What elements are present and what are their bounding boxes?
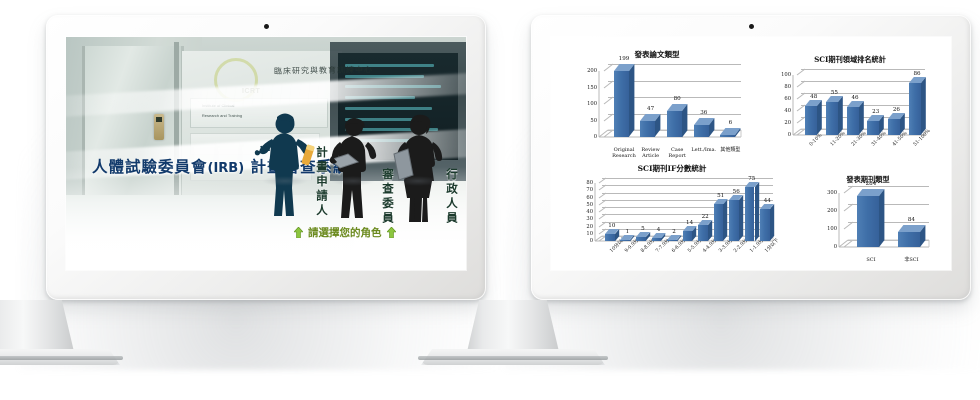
bar <box>826 102 838 135</box>
bar <box>805 106 817 135</box>
y-tick-label: 80 <box>586 180 593 186</box>
monitor-base-lip <box>0 356 123 360</box>
bar-value-label: 36 <box>700 110 707 116</box>
bar-value-label: 10 <box>608 223 615 229</box>
sci-if-score-chart-title: SCI期刊IF分數統計 <box>559 163 785 174</box>
bar <box>636 237 646 241</box>
role-figure-administrator[interactable] <box>390 114 446 224</box>
y-tick-label: 300 <box>827 190 837 196</box>
bar <box>652 238 662 241</box>
bar <box>620 240 630 242</box>
bar-value-label: 26 <box>893 107 900 113</box>
y-tick-label: 100 <box>827 226 837 232</box>
left-screen[interactable]: ICRT 臨床研究與教育訓練中心 Institute of Clinical R… <box>66 37 466 270</box>
bar-value-label: 48 <box>810 94 817 100</box>
bar-side-face <box>770 204 774 241</box>
bar-value-label: 44 <box>764 198 771 204</box>
y-tick-label: 60 <box>586 195 593 201</box>
bar-value-label: 22 <box>702 214 709 220</box>
bar <box>683 231 693 241</box>
bar-side-face <box>739 195 743 241</box>
y-tick-label: 50 <box>586 202 593 208</box>
wall-sign-text: 臨床研究與教育訓練中心 <box>274 64 373 77</box>
bar-side-face <box>723 199 727 241</box>
sci-if-score-chart-plot: 01020304050607080 1010分以上 19-9.9分 58-8.9… <box>595 183 773 241</box>
y-tick-label: 20 <box>586 224 593 230</box>
bar-top-face <box>857 189 884 196</box>
bar-value-label: 14 <box>686 220 693 226</box>
up-arrow-icon <box>294 227 303 238</box>
system-title-cn: 人體試驗委員會 <box>92 158 208 176</box>
sci-field-rank-chart: SCI期刊領域排名統計020406080100 480-10% 5511-20%… <box>757 55 943 159</box>
y-tick-label: 60 <box>784 96 791 102</box>
bar-top-face <box>847 101 864 107</box>
bar <box>667 240 677 242</box>
webcam-icon <box>749 24 754 29</box>
journal-type-chart: 發表期刊類型0100200300 284SCI 84非SCI <box>795 175 941 267</box>
bar-side-face <box>879 189 884 247</box>
y-tick-label: 0 <box>834 244 837 250</box>
right-screen[interactable]: 發表論文類型050100150200 199Original Research … <box>551 37 951 270</box>
journal-type-chart-plot: 0100200300 284SCI 84非SCI <box>839 193 929 247</box>
bar <box>867 121 879 135</box>
x-tick-label: 其他類型 <box>712 147 749 153</box>
y-tick-label: 0 <box>788 132 791 138</box>
y-tick-label: 70 <box>586 187 593 193</box>
bar <box>888 119 900 135</box>
bar-value-label: 5 <box>641 226 645 232</box>
bar <box>898 232 920 247</box>
bar-value-label: 1 <box>626 229 630 235</box>
role-figure-reviewer[interactable] <box>324 116 382 224</box>
x-tick-label: 非SCI <box>886 257 937 263</box>
role-prompt-text: 請選擇您的角色 <box>308 225 382 240</box>
bar-value-label: 55 <box>831 90 838 96</box>
bar-side-face <box>921 77 926 135</box>
bar-top-face <box>745 182 759 187</box>
bar-value-label: 2 <box>672 229 676 235</box>
bar-top-face <box>698 220 712 225</box>
bar-top-face <box>714 199 728 204</box>
paper-type-chart-title: 發表論文類型 <box>559 49 755 60</box>
bar <box>760 209 770 241</box>
y-tick-label: 20 <box>784 120 791 126</box>
bar-value-label: 51 <box>717 193 724 199</box>
bar-value-label: 23 <box>872 109 879 115</box>
bar-top-face <box>694 118 714 125</box>
y-tick-label: 10 <box>586 231 593 237</box>
bar <box>729 200 739 241</box>
bar <box>694 125 709 137</box>
bar-top-face <box>683 226 697 231</box>
statistics-slide: 發表論文類型050100150200 199Original Research … <box>551 37 951 270</box>
monitor-chin <box>531 274 971 300</box>
bar-value-label: 75 <box>748 176 755 182</box>
bar-top-face <box>640 114 660 121</box>
y-tick-label: 50 <box>590 118 597 124</box>
bar <box>847 107 859 135</box>
bar-top-face <box>805 100 822 106</box>
y-tick-label: 200 <box>587 68 597 74</box>
bar-top-face <box>888 113 905 119</box>
bar-top-face <box>867 115 884 121</box>
y-tick-label: 0 <box>590 238 593 244</box>
y-tick-label: 150 <box>587 85 597 91</box>
y-tick-label: 100 <box>587 101 597 107</box>
name-plate-line2: Research and Training <box>202 113 242 119</box>
up-arrow-icon-2 <box>387 227 396 238</box>
role-figure-applicant[interactable] <box>254 112 316 224</box>
bar <box>909 83 921 135</box>
bar-top-face <box>652 233 666 238</box>
bar-value-label: 6 <box>729 120 733 126</box>
y-tick-label: 40 <box>784 108 791 114</box>
bar-value-label: 84 <box>908 217 915 223</box>
monitor-neck <box>0 300 75 356</box>
bar <box>698 225 708 241</box>
bar-value-label: 47 <box>647 106 654 112</box>
bar <box>667 111 682 137</box>
bar-value-label: 284 <box>866 181 877 187</box>
y-tick-label: 30 <box>586 216 593 222</box>
system-title-en: (IRB) <box>208 161 245 176</box>
bar-top-face <box>636 232 650 237</box>
y-tick-label: 0 <box>594 134 597 140</box>
sci-field-rank-chart-plot: 020406080100 480-10% 5511-20% 4621-30% 2… <box>793 75 925 135</box>
sci-if-score-chart: SCI期刊IF分數統計01020304050607080 1010分以上 19-… <box>559 163 785 267</box>
bar-top-face <box>729 195 743 200</box>
y-tick-label: 40 <box>586 209 593 215</box>
bar-value-label: 199 <box>619 56 630 62</box>
bar-value-label: 86 <box>914 71 921 77</box>
bar-side-face <box>755 182 759 241</box>
bar-top-face <box>720 128 740 135</box>
monitor-base-lip <box>418 356 608 360</box>
bar-top-face <box>826 96 843 102</box>
y-tick-label: 100 <box>781 72 791 78</box>
bar-top-face <box>760 204 774 209</box>
bar-value-label: 56 <box>733 189 740 195</box>
photo-card-reader <box>154 114 164 140</box>
role-label-administrator[interactable]: 行政人員 <box>444 168 460 226</box>
bar <box>714 204 724 241</box>
bar-value-label: 46 <box>852 95 859 101</box>
bar <box>857 196 879 247</box>
applicant-silhouette-icon <box>254 112 316 224</box>
reviewer-silhouette-icon <box>324 116 382 224</box>
bar-top-face <box>909 77 926 83</box>
sci-field-rank-chart-title: SCI期刊領域排名統計 <box>757 55 943 65</box>
screenshot-stage: ICRT 臨床研究與教育訓練中心 Institute of Clinical R… <box>0 0 980 400</box>
role-prompt: 請選擇您的角色 <box>294 225 396 240</box>
y-tick-label: 200 <box>827 208 837 214</box>
monitor-neck <box>466 300 560 356</box>
monitor-bezel: 發表論文類型050100150200 199Original Research … <box>531 15 971 300</box>
bar <box>605 234 615 241</box>
bar-top-face <box>605 229 619 234</box>
paper-type-chart-plot: 050100150200 199Original Research 47Revi… <box>599 71 741 137</box>
y-tick-label: 80 <box>784 84 791 90</box>
monitor-bezel: ICRT 臨床研究與教育訓練中心 Institute of Clinical R… <box>46 15 486 300</box>
bar <box>640 121 655 137</box>
webcam-icon <box>264 24 269 29</box>
bar-side-face <box>629 64 634 137</box>
bar-top-face <box>898 225 925 232</box>
bar-top-face <box>614 64 634 71</box>
bar-value-label: 80 <box>674 96 681 102</box>
bar <box>745 187 755 241</box>
monitor-chin <box>46 274 486 300</box>
administrator-silhouette-icon <box>390 114 446 224</box>
bar-value-label: 4 <box>657 227 661 233</box>
bar-top-face <box>667 104 687 111</box>
bar <box>614 71 629 137</box>
paper-type-chart: 發表論文類型050100150200 199Original Research … <box>559 49 755 157</box>
bar <box>720 135 735 137</box>
